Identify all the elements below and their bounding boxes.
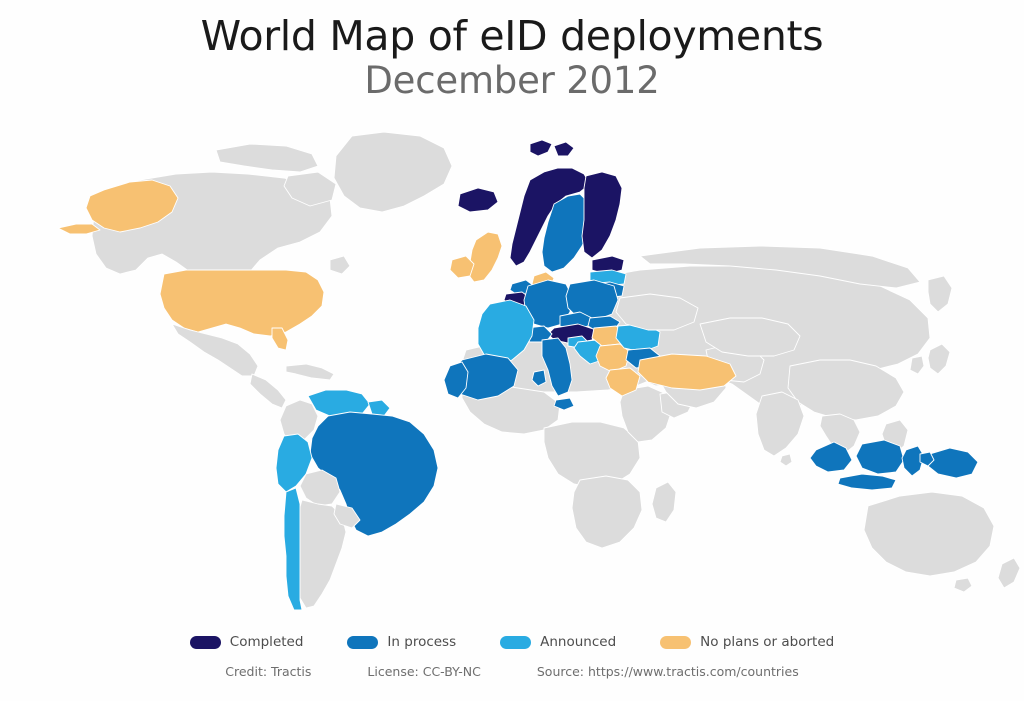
legend-swatch-in-process bbox=[347, 636, 378, 649]
title-block: World Map of eID deployments December 20… bbox=[0, 14, 1024, 105]
legend-item-completed[interactable]: Completed bbox=[190, 634, 304, 650]
legend-label-announced: Announced bbox=[540, 634, 616, 650]
region-greenland bbox=[334, 132, 452, 212]
region-svalbard bbox=[530, 140, 552, 156]
region-madagascar bbox=[652, 482, 676, 522]
region-japan bbox=[928, 344, 950, 374]
legend: Completed In process Announced No plans … bbox=[0, 634, 1024, 650]
region-java bbox=[838, 474, 896, 490]
legend-label-in-process: In process bbox=[387, 634, 456, 650]
legend-swatch-completed bbox=[190, 636, 221, 649]
region-kamchatka bbox=[928, 276, 952, 312]
region-papua bbox=[928, 448, 978, 478]
region-chile bbox=[284, 488, 302, 610]
credits-bar: Credit: Tractis License: CC-BY-NC Source… bbox=[0, 664, 1024, 679]
credit-text: Credit: Tractis bbox=[225, 664, 311, 679]
region-korea bbox=[910, 356, 924, 374]
region-united-states bbox=[160, 270, 324, 336]
infographic-page: World Map of eID deployments December 20… bbox=[0, 0, 1024, 701]
legend-item-announced[interactable]: Announced bbox=[500, 634, 616, 650]
region-china bbox=[788, 360, 904, 420]
region-australia bbox=[864, 492, 994, 576]
legend-swatch-announced bbox=[500, 636, 531, 649]
region-india bbox=[756, 392, 804, 456]
legend-item-in-process[interactable]: In process bbox=[347, 634, 456, 650]
world-map-svg bbox=[0, 128, 1024, 620]
legend-label-no-plans: No plans or aborted bbox=[700, 634, 834, 650]
region-united-kingdom bbox=[468, 232, 502, 282]
region-southern-africa bbox=[572, 476, 642, 548]
source-text[interactable]: Source: https://www.tractis.com/countrie… bbox=[537, 664, 799, 679]
license-text: License: CC-BY-NC bbox=[367, 664, 480, 679]
region-svalbard-east bbox=[554, 142, 574, 156]
world-map bbox=[0, 128, 1024, 620]
region-canada-arctic-islands bbox=[216, 144, 318, 172]
region-central-america bbox=[250, 374, 286, 408]
region-iceland bbox=[458, 188, 498, 212]
region-finland bbox=[582, 172, 622, 258]
page-subtitle: December 2012 bbox=[0, 58, 1024, 104]
region-borneo bbox=[856, 440, 904, 474]
region-newfoundland bbox=[330, 256, 350, 274]
region-new-zealand bbox=[998, 558, 1020, 588]
region-mexico bbox=[172, 324, 258, 376]
legend-label-completed: Completed bbox=[230, 634, 304, 650]
region-caribbean-islands bbox=[286, 364, 334, 380]
page-title: World Map of eID deployments bbox=[0, 14, 1024, 58]
legend-item-no-plans[interactable]: No plans or aborted bbox=[660, 634, 834, 650]
region-sri-lanka bbox=[780, 454, 792, 466]
region-tasmania bbox=[954, 578, 972, 592]
legend-swatch-no-plans bbox=[660, 636, 691, 649]
